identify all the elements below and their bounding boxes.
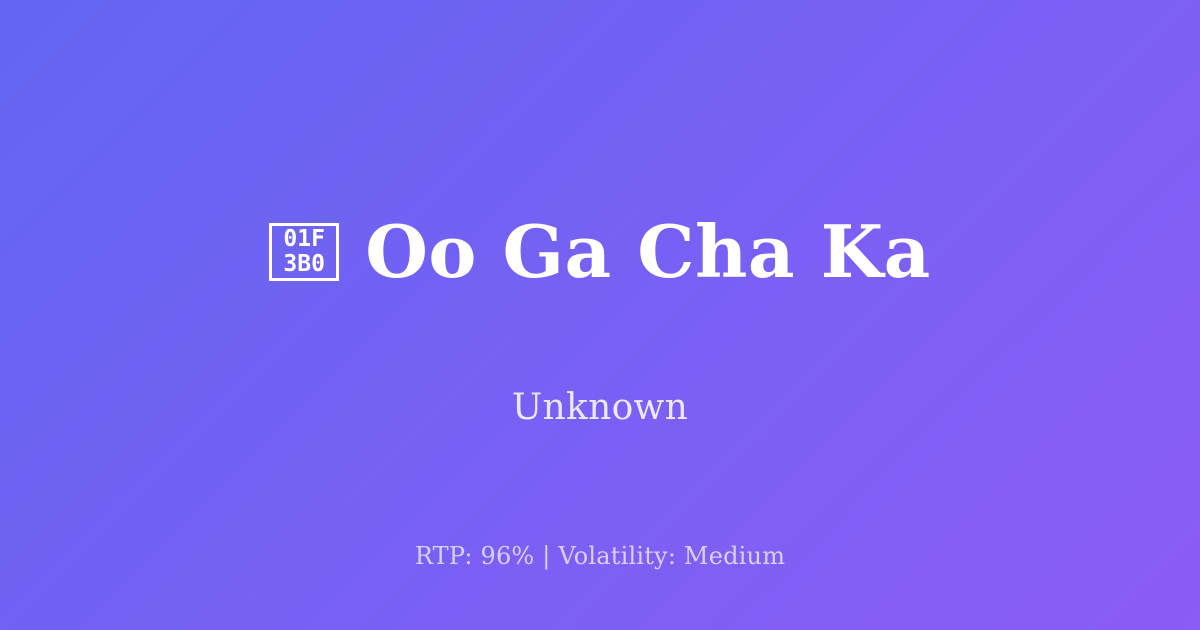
page-title: Oo Ga Cha Ka [365, 216, 931, 288]
game-meta-line: RTP: 96% | Volatility: Medium [0, 544, 1200, 568]
game-share-card: 01F 3B0 Oo Ga Cha Ka Unknown RTP: 96% | … [0, 0, 1200, 630]
title-row: 01F 3B0 Oo Ga Cha Ka [269, 168, 931, 336]
hero-block: 01F 3B0 Oo Ga Cha Ka Unknown [269, 168, 931, 426]
slot-machine-icon: 01F 3B0 [269, 223, 339, 281]
codepoint-row-top: 01F [283, 227, 325, 252]
game-provider-subtitle: Unknown [512, 390, 688, 426]
codepoint-row-bottom: 3B0 [283, 252, 325, 277]
